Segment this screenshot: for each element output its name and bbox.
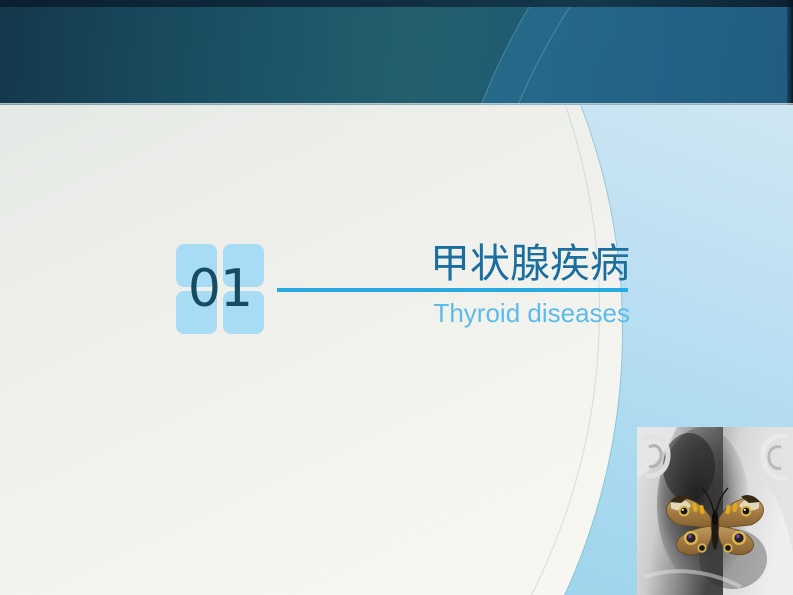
- slide-title-english: Thyroid diseases: [230, 296, 630, 330]
- banner-bottom-highlight: [0, 103, 793, 106]
- slide-title-chinese: 甲状腺疾病: [230, 240, 630, 288]
- title-divider-rule: [277, 288, 628, 292]
- presentation-slide: 01 甲状腺疾病 Thyroid diseases: [0, 0, 793, 595]
- banner-top-strip: [0, 0, 793, 7]
- slide-header-banner: [0, 0, 793, 105]
- photo-illustration: [637, 427, 793, 595]
- banner-right-edge: [787, 0, 793, 105]
- thyroid-butterfly-photo: [637, 427, 793, 595]
